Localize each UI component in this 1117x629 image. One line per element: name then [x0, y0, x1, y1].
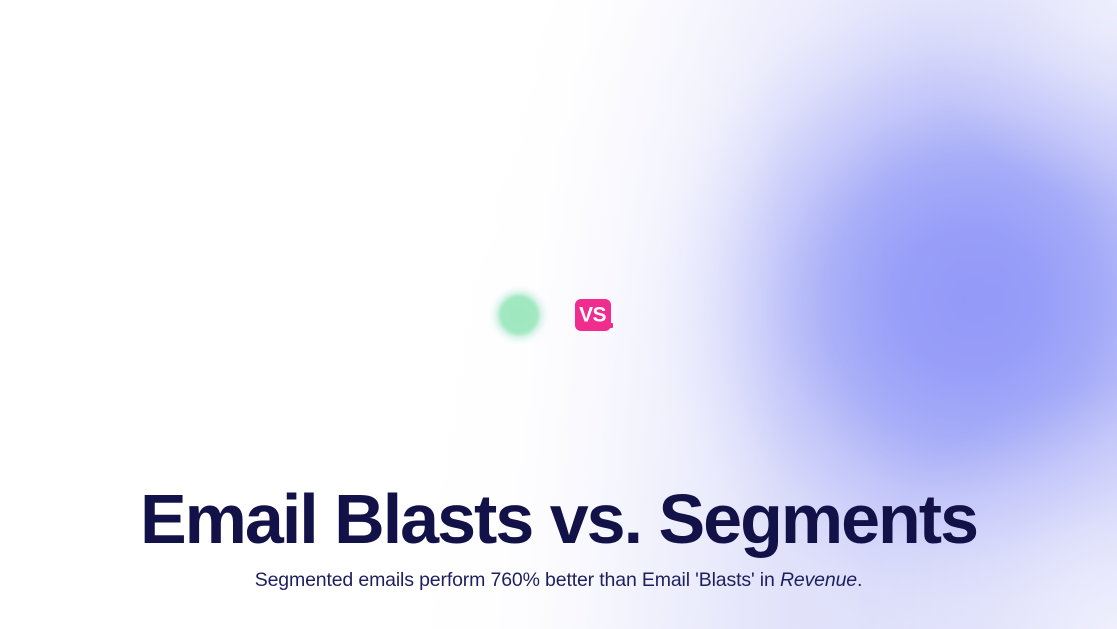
- slide-canvas: VS Email Blasts vs. Segments Segmented e…: [0, 0, 1117, 629]
- green-glow-circle-icon: [493, 289, 545, 341]
- subtitle-tail: .: [857, 569, 862, 591]
- page-subtitle: Segmented emails perform 760% better tha…: [0, 570, 1117, 591]
- headline-block: Email Blasts vs. Segments Segmented emai…: [0, 484, 1117, 591]
- subtitle-lead: Segmented emails perform 760% better tha…: [255, 569, 780, 591]
- subtitle-emphasis: Revenue: [780, 569, 857, 591]
- emblem-row: VS: [0, 289, 1117, 341]
- green-glow-core: [499, 295, 539, 335]
- versus-badge-icon: VS: [575, 295, 625, 335]
- page-title: Email Blasts vs. Segments: [0, 484, 1117, 554]
- versus-badge-dot: [608, 323, 613, 328]
- versus-badge-tile: VS: [575, 299, 611, 331]
- versus-badge-label: VS: [579, 304, 606, 325]
